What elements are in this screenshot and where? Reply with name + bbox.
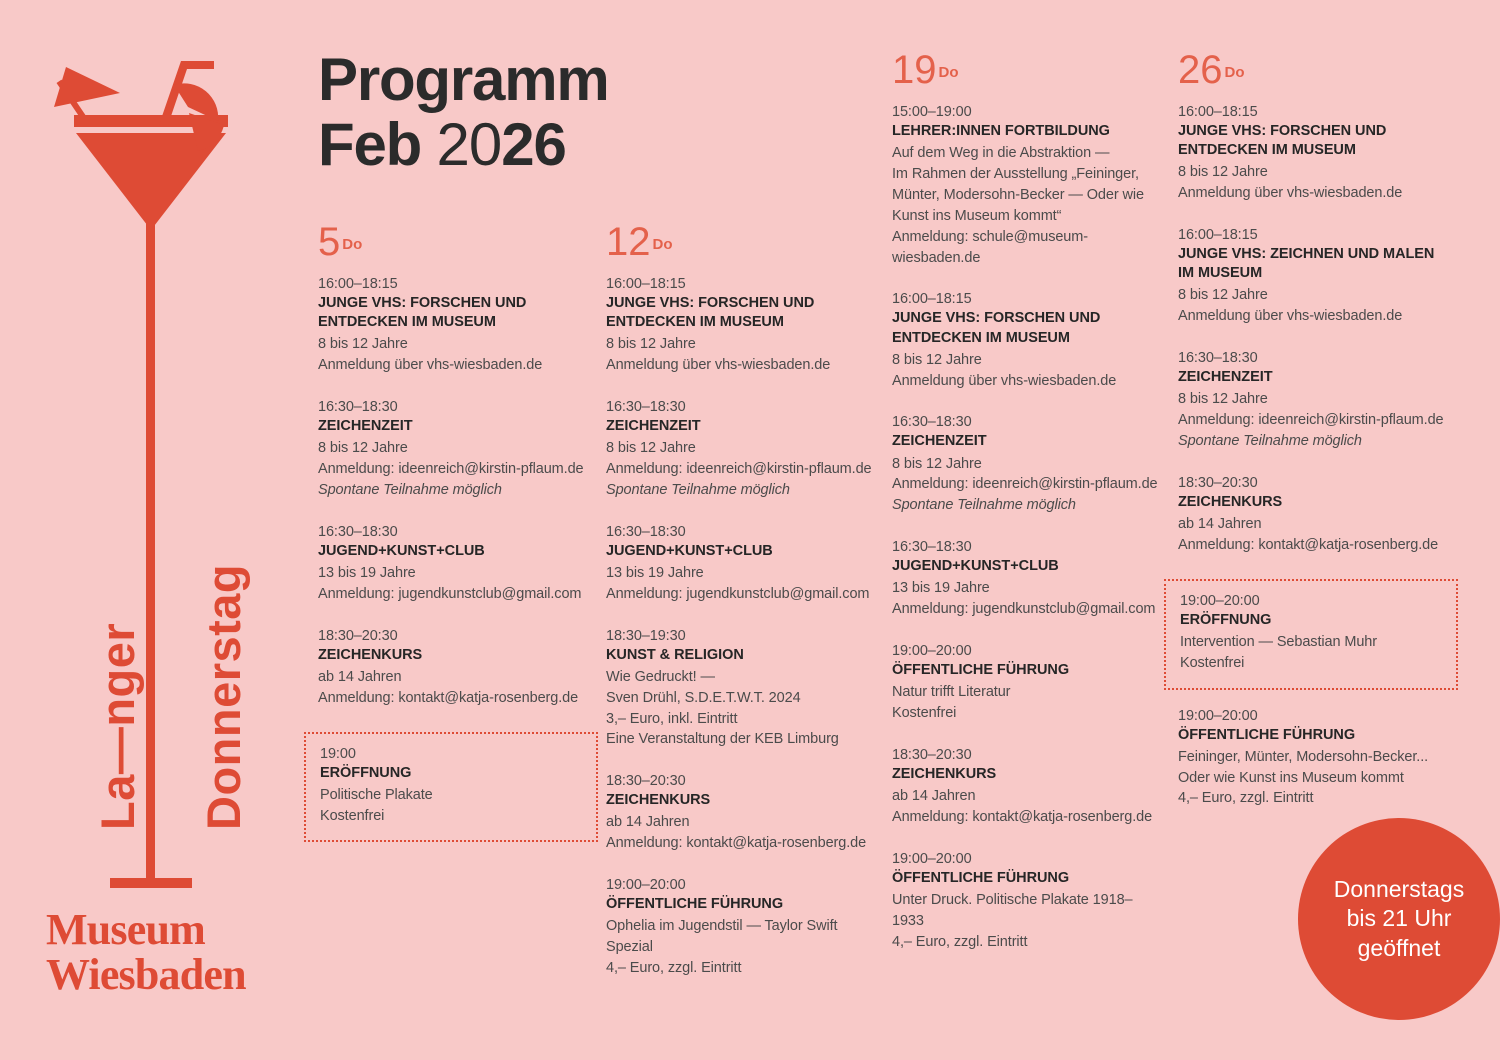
event-title: JUNGE VHS: ZEICHNEN UND MALEN IM MUSEUM [1178,245,1450,283]
event-detail-line: Intervention — Sebastian Muhr [1180,632,1442,653]
event-title: LEHRER:INNEN FORTBILDUNG [892,122,1164,141]
event-title: ZEICHENZEIT [892,432,1164,451]
museum-wiesbaden-logo: Museum Wiesbaden [46,908,246,998]
wordmark-langer: La—nger [94,623,141,830]
longer-thursday-wordmark: La—nger Donnerstag [52,270,272,830]
event-time: 16:00–18:15 [606,276,878,292]
event-time: 16:30–18:30 [892,539,1164,555]
event-time: 18:30–20:30 [1178,475,1450,491]
event-time: 18:30–20:30 [892,747,1164,763]
event-detail-line: 8 bis 12 Jahre [318,438,590,459]
event-time: 18:30–20:30 [606,773,878,789]
day-of-week: Do [939,64,959,81]
opening-hours-badge: Donnerstags bis 21 Uhr geöffnet [1298,818,1500,1020]
badge-line-3: geöffnet [1334,934,1464,963]
event-detail-line: 8 bis 12 Jahre [606,334,878,355]
event-item: 16:00–18:15JUNGE VHS: FORSCHEN UND ENTDE… [892,291,1164,391]
poster-canvas: La—nger Donnerstag Museum Wiesbaden Prog… [0,0,1500,1060]
event-detail-line: 8 bis 12 Jahre [1178,285,1450,306]
day-column-26: 26Do16:00–18:15JUNGE VHS: FORSCHEN UND E… [1178,50,1450,809]
event-time: 16:00–18:15 [892,291,1164,307]
event-title: ZEICHENZEIT [606,417,878,436]
event-detail-line: Kostenfrei [1180,653,1442,674]
event-title: JUNGE VHS: FORSCHEN UND ENTDECKEN IM MUS… [1178,122,1450,160]
wordmark-donnerstag: Donnerstag [200,564,247,830]
event-title: JUNGE VHS: FORSCHEN UND ENTDECKEN IM MUS… [892,309,1164,347]
event-title: ÖFFENTLICHE FÜHRUNG [606,895,878,914]
badge-line-1: Donnerstags [1334,875,1464,904]
event-detail-line: Kostenfrei [320,806,582,827]
event-item: 18:30–20:30ZEICHENKURSab 14 JahrenAnmeld… [892,747,1164,828]
event-detail-line: Politische Plakate [320,785,582,806]
event-time: 16:30–18:30 [606,399,878,415]
event-title: ÖFFENTLICHE FÜHRUNG [892,869,1164,888]
event-time: 19:00–20:00 [892,851,1164,867]
day-heading: 12Do [606,222,878,262]
event-title: ZEICHENKURS [318,646,590,665]
event-detail-line: Anmeldung: kontakt@katja-rosenberg.de [892,807,1164,828]
badge-line-2: bis 21 Uhr [1334,904,1464,933]
event-title: KUNST & RELIGION [606,646,878,665]
event-time: 19:00–20:00 [606,877,878,893]
event-time: 18:30–20:30 [318,628,590,644]
event-time: 18:30–19:30 [606,628,878,644]
event-title: JUGEND+KUNST+CLUB [892,557,1164,576]
event-detail-line: Anmeldung: kontakt@katja-rosenberg.de [1178,535,1450,556]
event-time: 16:30–18:30 [1178,350,1450,366]
event-time: 16:30–18:30 [892,414,1164,430]
event-detail-line: Anmeldung: ideenreich@kirstin-pflaum.de [606,459,878,480]
event-title: ZEICHENKURS [1178,493,1450,512]
event-detail-line: Anmeldung: jugendkunstclub@gmail.com [892,599,1164,620]
event-detail-line: Anmeldung: kontakt@katja-rosenberg.de [606,833,878,854]
event-detail-line: Anmeldung: ideenreich@kirstin-pflaum.de [1178,410,1450,431]
event-item: 19:00–20:00ÖFFENTLICHE FÜHRUNGNatur trif… [892,643,1164,724]
event-item: 16:30–18:30JUGEND+KUNST+CLUB13 bis 19 Ja… [606,524,878,605]
event-detail-line: Natur trifft Literatur [892,682,1164,703]
day-heading: 19Do [892,50,1164,90]
event-item: 19:00–20:00ÖFFENTLICHE FÜHRUNGUnter Druc… [892,851,1164,953]
page-title-line2: Feb 2026 [318,113,609,178]
event-time: 16:00–18:15 [1178,227,1450,243]
event-title: JUNGE VHS: FORSCHEN UND ENTDECKEN IM MUS… [606,294,878,332]
event-detail-line: Feininger, Münter, Modersohn-Becker... [1178,747,1450,768]
event-detail-line: 8 bis 12 Jahre [606,438,878,459]
event-detail-line: 8 bis 12 Jahre [1178,162,1450,183]
event-detail-line: 8 bis 12 Jahre [318,334,590,355]
event-detail-line: Anmeldung: kontakt@katja-rosenberg.de [318,688,590,709]
page-title-month: Feb [318,111,437,178]
event-detail-line: Kostenfrei [892,703,1164,724]
event-highlighted: 19:00ERÖFFNUNGPolitische PlakateKostenfr… [304,732,598,843]
event-detail-line: Oder wie Kunst ins Museum kommt [1178,768,1450,789]
event-item: 15:00–19:00LEHRER:INNEN FORTBILDUNGAuf d… [892,104,1164,268]
event-title: ZEICHENZEIT [318,417,590,436]
event-time: 16:00–18:15 [1178,104,1450,120]
event-detail-line: Wie Gedruckt! — [606,667,878,688]
day-of-week: Do [1225,64,1245,81]
museum-logo-line2: Wiesbaden [46,953,246,998]
event-item: 16:30–18:30JUGEND+KUNST+CLUB13 bis 19 Ja… [892,539,1164,620]
day-number: 19 [892,48,937,92]
event-item: 16:30–18:30JUGEND+KUNST+CLUB13 bis 19 Ja… [318,524,590,605]
event-item: 18:30–20:30ZEICHENKURSab 14 JahrenAnmeld… [606,773,878,854]
event-detail-line: ab 14 Jahren [1178,514,1450,535]
page-title-year-prefix: 20 [437,111,502,178]
day-number: 5 [318,220,340,264]
event-title: JUGEND+KUNST+CLUB [606,542,878,561]
event-detail-line: Kunst ins Museum kommt“ [892,206,1164,227]
day-column-12: 12Do16:00–18:15JUNGE VHS: FORSCHEN UND E… [606,222,878,979]
event-note-line: Spontane Teilnahme möglich [892,495,1164,516]
event-detail-line: Auf dem Weg in die Abstraktion — [892,143,1164,164]
event-detail-line: Anmeldung über vhs-wiesbaden.de [318,355,590,376]
event-item: 16:00–18:15JUNGE VHS: ZEICHNEN UND MALEN… [1178,227,1450,327]
event-detail-line: Anmeldung: jugendkunstclub@gmail.com [318,584,590,605]
event-time: 16:30–18:30 [318,524,590,540]
event-detail-line: 8 bis 12 Jahre [892,454,1164,475]
day-heading: 5Do [318,222,590,262]
event-detail-line: Anmeldung: ideenreich@kirstin-pflaum.de [318,459,590,480]
day-number: 26 [1178,48,1223,92]
event-detail-line: Ophelia im Jugendstil — Taylor Swift Spe… [606,916,878,958]
event-detail-line: Im Rahmen der Ausstellung „Feininger, [892,164,1164,185]
event-time: 19:00 [320,746,582,762]
event-detail-line: 13 bis 19 Jahre [606,563,878,584]
page-title-year-suffix: 26 [501,111,565,178]
event-detail-line: ab 14 Jahren [606,812,878,833]
event-time: 16:00–18:15 [318,276,590,292]
event-note-line: Spontane Teilnahme möglich [318,480,590,501]
event-title: ERÖFFNUNG [1180,611,1442,630]
page-title: Programm Feb 2026 [318,48,609,178]
page-title-line1: Programm [318,48,609,113]
event-title: ERÖFFNUNG [320,764,582,783]
opening-hours-text: Donnerstags bis 21 Uhr geöffnet [1334,875,1464,963]
museum-logo-line1: Museum [46,908,246,953]
event-item: 16:00–18:15JUNGE VHS: FORSCHEN UND ENTDE… [318,276,590,376]
event-time: 19:00–20:00 [1180,593,1442,609]
event-detail-line: Eine Veranstaltung der KEB Limburg [606,729,878,750]
event-time: 15:00–19:00 [892,104,1164,120]
event-detail-line: 4,– Euro, zzgl. Eintritt [892,932,1164,953]
event-item: 18:30–20:30ZEICHENKURSab 14 JahrenAnmeld… [318,628,590,709]
event-highlighted: 19:00–20:00ERÖFFNUNGIntervention — Sebas… [1164,579,1458,690]
day-of-week: Do [342,236,362,253]
event-item: 16:00–18:15JUNGE VHS: FORSCHEN UND ENTDE… [1178,104,1450,204]
event-detail-line: 3,– Euro, inkl. Eintritt [606,709,878,730]
event-detail-line: ab 14 Jahren [892,786,1164,807]
event-note-line: Spontane Teilnahme möglich [1178,431,1450,452]
event-time: 19:00–20:00 [1178,708,1450,724]
event-title: ZEICHENKURS [892,765,1164,784]
event-item: 18:30–19:30KUNST & RELIGIONWie Gedruckt!… [606,628,878,751]
event-detail-line: 13 bis 19 Jahre [892,578,1164,599]
event-note-line: Spontane Teilnahme möglich [606,480,878,501]
event-detail-line: 4,– Euro, zzgl. Eintritt [1178,788,1450,809]
event-detail-line: Anmeldung: schule@museum-wiesbaden.de [892,227,1164,269]
day-column-5: 5Do16:00–18:15JUNGE VHS: FORSCHEN UND EN… [318,222,590,860]
event-time: 16:30–18:30 [606,524,878,540]
event-time: 19:00–20:00 [892,643,1164,659]
day-number: 12 [606,220,651,264]
event-item: 16:30–18:30ZEICHENZEIT8 bis 12 JahreAnme… [892,414,1164,516]
day-of-week: Do [653,236,673,253]
event-detail-line: Anmeldung über vhs-wiesbaden.de [1178,306,1450,327]
event-item: 16:30–18:30ZEICHENZEIT8 bis 12 JahreAnme… [606,399,878,501]
event-detail-line: Anmeldung: ideenreich@kirstin-pflaum.de [892,474,1164,495]
event-item: 16:30–18:30ZEICHENZEIT8 bis 12 JahreAnme… [318,399,590,501]
day-heading: 26Do [1178,50,1450,90]
event-title: JUGEND+KUNST+CLUB [318,542,590,561]
event-detail-line: 8 bis 12 Jahre [1178,389,1450,410]
event-title: ÖFFENTLICHE FÜHRUNG [892,661,1164,680]
event-detail-line: 4,– Euro, zzgl. Eintritt [606,958,878,979]
event-time: 16:30–18:30 [318,399,590,415]
day-column-19: 19Do15:00–19:00LEHRER:INNEN FORTBILDUNGA… [892,50,1164,953]
event-item: 16:00–18:15JUNGE VHS: FORSCHEN UND ENTDE… [606,276,878,376]
event-detail-line: Sven Drühl, S.D.E.T.W.T. 2024 [606,688,878,709]
event-title: ZEICHENZEIT [1178,368,1450,387]
event-detail-line: Anmeldung über vhs-wiesbaden.de [1178,183,1450,204]
event-title: JUNGE VHS: FORSCHEN UND ENTDECKEN IM MUS… [318,294,590,332]
event-title: ZEICHENKURS [606,791,878,810]
event-detail-line: Unter Druck. Politische Plakate 1918–193… [892,890,1164,932]
event-item: 19:00–20:00ÖFFENTLICHE FÜHRUNGOphelia im… [606,877,878,979]
event-detail-line: Münter, Modersohn-Becker — Oder wie [892,185,1164,206]
event-item: 18:30–20:30ZEICHENKURSab 14 JahrenAnmeld… [1178,475,1450,556]
event-detail-line: Anmeldung: jugendkunstclub@gmail.com [606,584,878,605]
event-detail-line: ab 14 Jahren [318,667,590,688]
event-title: ÖFFENTLICHE FÜHRUNG [1178,726,1450,745]
event-item: 16:30–18:30ZEICHENZEIT8 bis 12 JahreAnme… [1178,350,1450,452]
event-detail-line: 8 bis 12 Jahre [892,350,1164,371]
event-item: 19:00–20:00ÖFFENTLICHE FÜHRUNGFeininger,… [1178,708,1450,810]
event-detail-line: Anmeldung über vhs-wiesbaden.de [606,355,878,376]
event-detail-line: Anmeldung über vhs-wiesbaden.de [892,371,1164,392]
brand-rail: La—nger Donnerstag Museum Wiesbaden [0,0,300,1060]
event-detail-line: 13 bis 19 Jahre [318,563,590,584]
